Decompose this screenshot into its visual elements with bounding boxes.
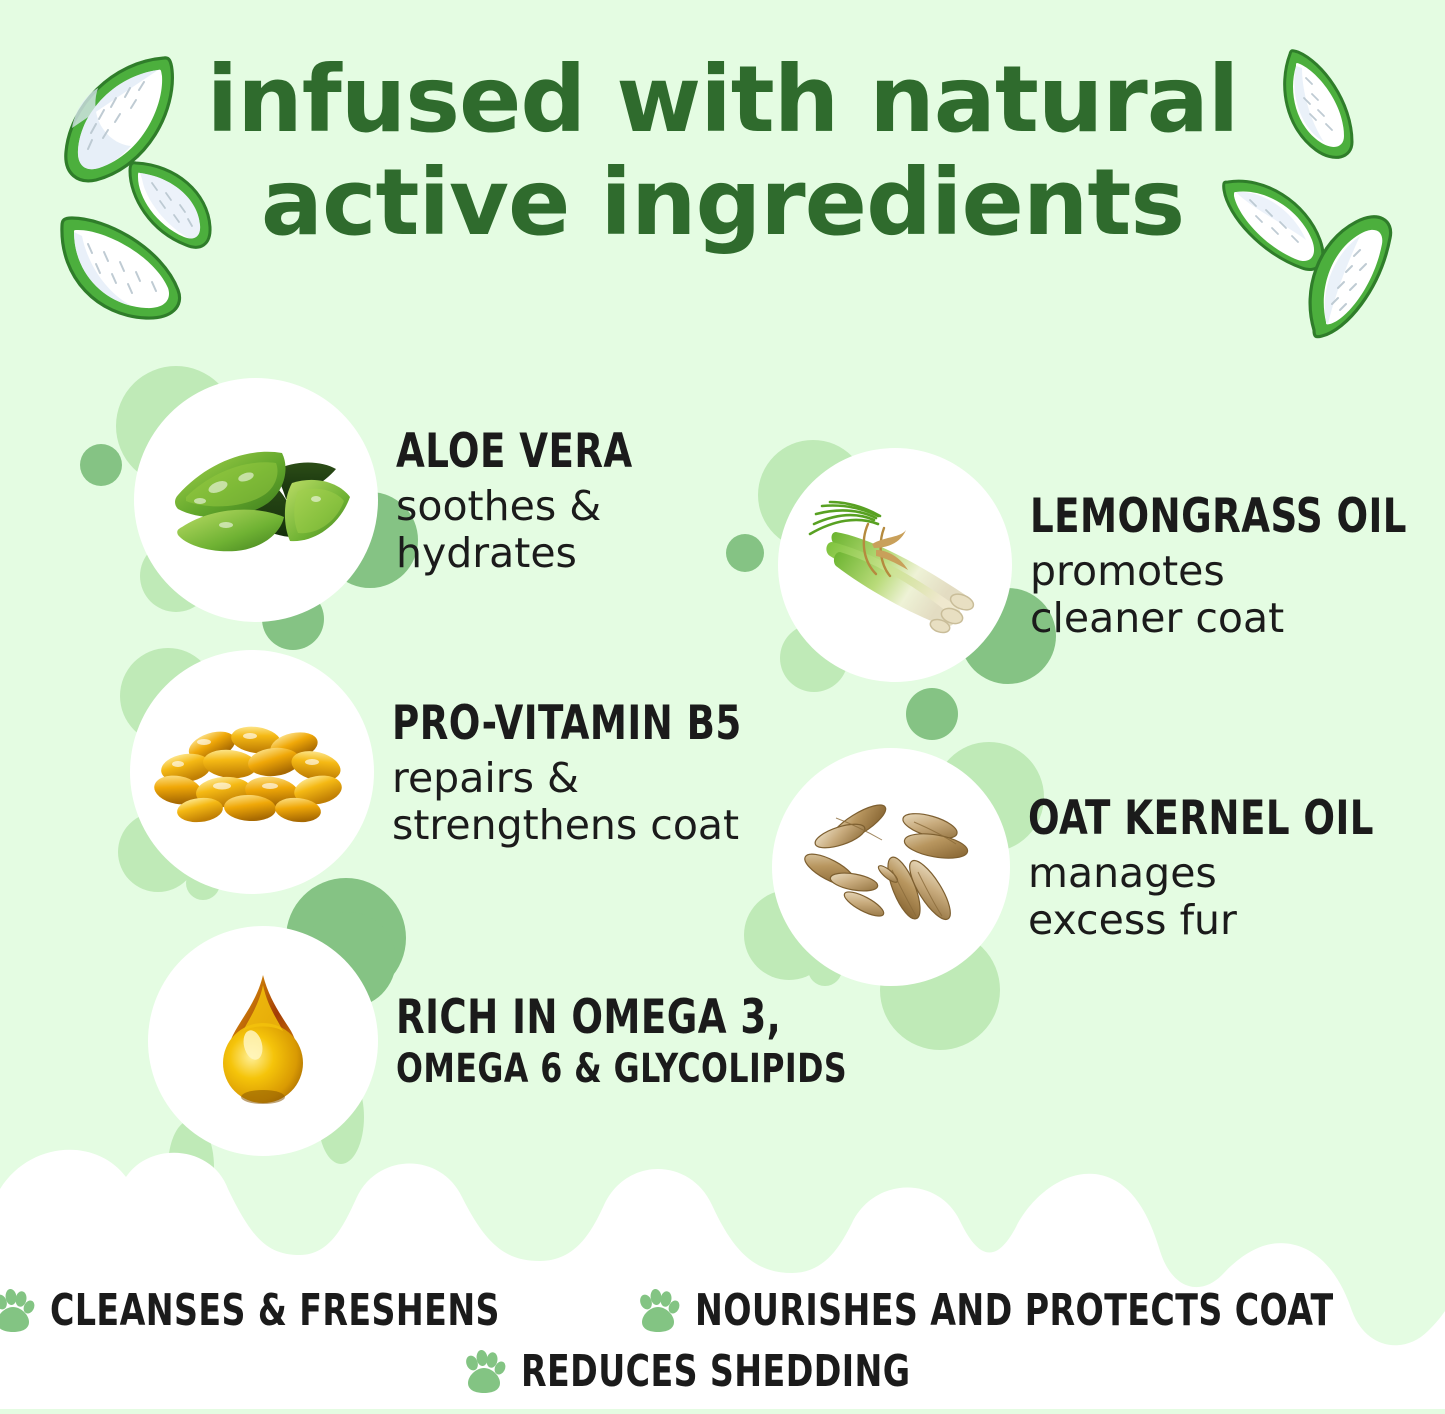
decor-circle [80, 444, 122, 486]
benefit-item: NOURISHES AND PROTECTS COAT [635, 1285, 1445, 1336]
oat-kernel-photo [772, 748, 1010, 986]
infographic-canvas: infused with natural active ingredients [0, 0, 1445, 1409]
benefits-row-1: CLEANSES & FRESHENS NOURISHES AND PROTEC… [0, 1285, 1445, 1336]
paw-icon [461, 1349, 507, 1395]
ingredient-text: ALOE VERA soothes & hydrates [378, 424, 665, 576]
oil-droplet-photo [148, 926, 378, 1156]
benefit-item: CLEANSES & FRESHENS [0, 1285, 585, 1336]
benefit-label: CLEANSES & FRESHENS [50, 1285, 500, 1336]
ingredient-pro-vitamin-b5: PRO-VITAMIN B5 repairs & strengthens coa… [130, 650, 789, 894]
ingredient-subtitle: manages excess fur [1028, 850, 1421, 943]
page-title: infused with natural active ingredients [0, 48, 1445, 254]
ingredient-title: RICH IN OMEGA 3, [396, 990, 847, 1045]
headline-line-1: infused with natural [0, 48, 1445, 151]
decor-circle [726, 534, 764, 572]
benefits-list: CLEANSES & FRESHENS NOURISHES AND PROTEC… [0, 1285, 1445, 1397]
decor-circle [906, 688, 958, 740]
paw-icon [0, 1288, 36, 1334]
headline-line-2: active ingredients [0, 151, 1445, 254]
ingredient-text: PRO-VITAMIN B5 repairs & strengthens coa… [374, 696, 789, 848]
paw-icon [635, 1288, 681, 1334]
ingredient-subtitle: repairs & strengthens coat [392, 755, 789, 848]
aloe-vera-photo [134, 378, 378, 622]
ingredient-aloe-vera: ALOE VERA soothes & hydrates [134, 378, 665, 622]
benefit-label: NOURISHES AND PROTECTS COAT [695, 1285, 1334, 1336]
ingredient-title: PRO-VITAMIN B5 [392, 696, 742, 751]
benefits-row-2: REDUCES SHEDDING [0, 1346, 1445, 1397]
ingredient-subtitle: OMEGA 6 & GLYCOLIPIDS [396, 1047, 847, 1093]
ingredient-text: LEMONGRASS OIL promotes cleaner coat [1012, 489, 1445, 641]
ingredient-lemongrass-oil: LEMONGRASS OIL promotes cleaner coat [778, 448, 1445, 682]
ingredient-title: LEMONGRASS OIL [1030, 489, 1407, 544]
ingredient-subtitle: soothes & hydrates [396, 483, 665, 576]
vitamin-b5-capsules-photo [130, 650, 374, 894]
benefit-item: REDUCES SHEDDING [461, 1346, 985, 1397]
ingredient-text: RICH IN OMEGA 3, OMEGA 6 & GLYCOLIPIDS [378, 990, 909, 1093]
ingredient-title: OAT KERNEL OIL [1028, 791, 1374, 846]
benefit-label: REDUCES SHEDDING [521, 1346, 910, 1397]
ingredient-subtitle: promotes cleaner coat [1030, 548, 1445, 641]
ingredient-text: OAT KERNEL OIL manages excess fur [1010, 791, 1421, 943]
ingredient-title: ALOE VERA [396, 424, 633, 479]
ingredient-oat-kernel-oil: OAT KERNEL OIL manages excess fur [772, 748, 1421, 986]
lemongrass-photo [778, 448, 1012, 682]
